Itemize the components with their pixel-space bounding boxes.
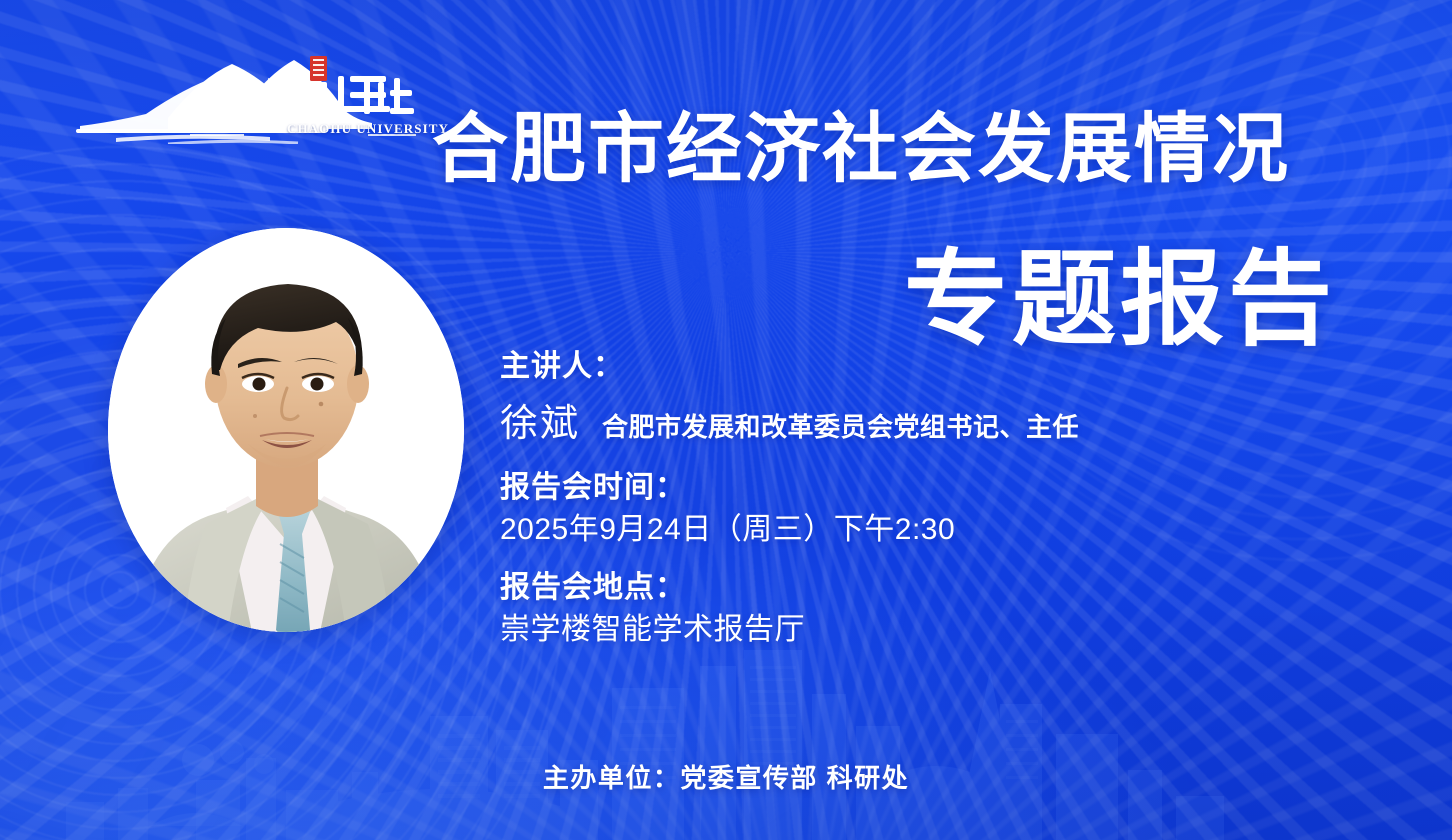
time-value: 2025年9月24日（周三）下午2:30 [500, 510, 1330, 551]
speaker-label: 主讲人： [500, 348, 1330, 386]
speaker-portrait-illustration [108, 228, 464, 632]
brand-logo: CHAOHU UNIVERSITY [72, 52, 417, 144]
speaker-name: 徐斌 [500, 392, 580, 447]
page-title-line2: 专题报告 [904, 248, 1336, 352]
venue-label: 报告会地点： [500, 569, 1330, 607]
host-organizations: 主办单位：党委宣传部 科研处 [0, 758, 1452, 795]
event-info-block: 主讲人： 徐斌 合肥市发展和改革委员会党组书记、主任 报告会时间： 2025年9… [500, 348, 1330, 651]
speaker-portrait [108, 228, 464, 632]
speaker-role: 合肥市发展和改革委员会党组书记、主任 [602, 407, 1079, 444]
red-seal-icon [310, 56, 327, 81]
page-title-line1: 合肥市经济社会发展情况 [432, 112, 1290, 188]
venue-value: 崇学楼智能学术报告厅 [500, 610, 1330, 651]
speaker-row: 徐斌 合肥市发展和改革委员会党组书记、主任 [500, 392, 1330, 447]
poster-canvas: CHAOHU UNIVERSITY [0, 0, 1452, 840]
time-label: 报告会时间： [500, 469, 1330, 507]
